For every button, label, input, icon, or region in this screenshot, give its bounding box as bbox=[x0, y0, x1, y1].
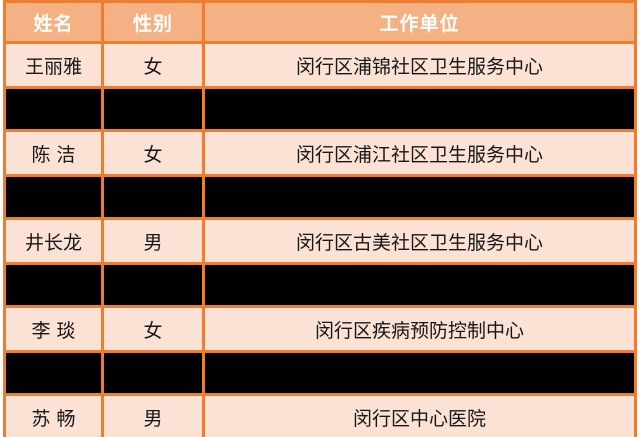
column-header-gender: 性别 bbox=[104, 0, 205, 44]
redaction-block bbox=[205, 177, 634, 217]
cell-name: 苏 畅 bbox=[3, 396, 104, 437]
roster-table: 姓名 性别 工作单位 王丽雅女闵行区浦锦社区卫生服务中心陈 洁女闵行区浦江社区卫… bbox=[3, 0, 637, 437]
cell-name: 王丽雅 bbox=[3, 44, 104, 89]
roster-table-body: 姓名 性别 工作单位 王丽雅女闵行区浦锦社区卫生服务中心陈 洁女闵行区浦江社区卫… bbox=[3, 0, 637, 437]
redaction-block bbox=[104, 265, 202, 305]
document-page: 姓名 性别 工作单位 王丽雅女闵行区浦锦社区卫生服务中心陈 洁女闵行区浦江社区卫… bbox=[0, 0, 640, 437]
redacted-cell-unit bbox=[205, 89, 637, 132]
redaction-block bbox=[104, 353, 202, 393]
cell-name: 李 琰 bbox=[3, 308, 104, 353]
cell-gender: 女 bbox=[104, 308, 205, 353]
table-row: 苏 畅男闵行区中心医院 bbox=[3, 396, 637, 437]
redacted-cell-gender bbox=[104, 353, 205, 396]
redaction-block bbox=[6, 265, 101, 305]
redaction-block bbox=[104, 89, 202, 129]
column-header-name: 姓名 bbox=[3, 0, 104, 44]
redaction-block bbox=[205, 89, 634, 129]
table-row: 王丽雅女闵行区浦锦社区卫生服务中心 bbox=[3, 44, 637, 89]
table-row: 井长龙男闵行区古美社区卫生服务中心 bbox=[3, 220, 637, 265]
redaction-block bbox=[6, 177, 101, 217]
table-row-redacted bbox=[3, 265, 637, 308]
cell-name: 井长龙 bbox=[3, 220, 104, 265]
redacted-cell-gender bbox=[104, 177, 205, 220]
table-row-redacted bbox=[3, 353, 637, 396]
redaction-block bbox=[205, 353, 634, 393]
cell-gender: 男 bbox=[104, 396, 205, 437]
cell-unit: 闵行区浦锦社区卫生服务中心 bbox=[205, 44, 637, 89]
cell-gender: 女 bbox=[104, 132, 205, 177]
redacted-cell-gender bbox=[104, 265, 205, 308]
cell-gender: 男 bbox=[104, 220, 205, 265]
redaction-block bbox=[6, 353, 101, 393]
cell-unit: 闵行区浦江社区卫生服务中心 bbox=[205, 132, 637, 177]
redaction-block bbox=[205, 265, 634, 305]
cell-name: 陈 洁 bbox=[3, 132, 104, 177]
redacted-cell-name bbox=[3, 177, 104, 220]
redacted-cell-unit bbox=[205, 177, 637, 220]
redacted-cell-name bbox=[3, 89, 104, 132]
table-row-redacted bbox=[3, 89, 637, 132]
table-row-redacted bbox=[3, 177, 637, 220]
cell-gender: 女 bbox=[104, 44, 205, 89]
redacted-cell-gender bbox=[104, 89, 205, 132]
redaction-block bbox=[104, 177, 202, 217]
cell-unit: 闵行区古美社区卫生服务中心 bbox=[205, 220, 637, 265]
table-row: 陈 洁女闵行区浦江社区卫生服务中心 bbox=[3, 132, 637, 177]
table-header-row: 姓名 性别 工作单位 bbox=[3, 0, 637, 44]
table-row: 李 琰女闵行区疾病预防控制中心 bbox=[3, 308, 637, 353]
redacted-cell-name bbox=[3, 353, 104, 396]
redacted-cell-unit bbox=[205, 265, 637, 308]
column-header-unit: 工作单位 bbox=[205, 0, 637, 44]
cell-unit: 闵行区中心医院 bbox=[205, 396, 637, 437]
redaction-block bbox=[6, 89, 101, 129]
redacted-cell-unit bbox=[205, 353, 637, 396]
cell-unit: 闵行区疾病预防控制中心 bbox=[205, 308, 637, 353]
redacted-cell-name bbox=[3, 265, 104, 308]
